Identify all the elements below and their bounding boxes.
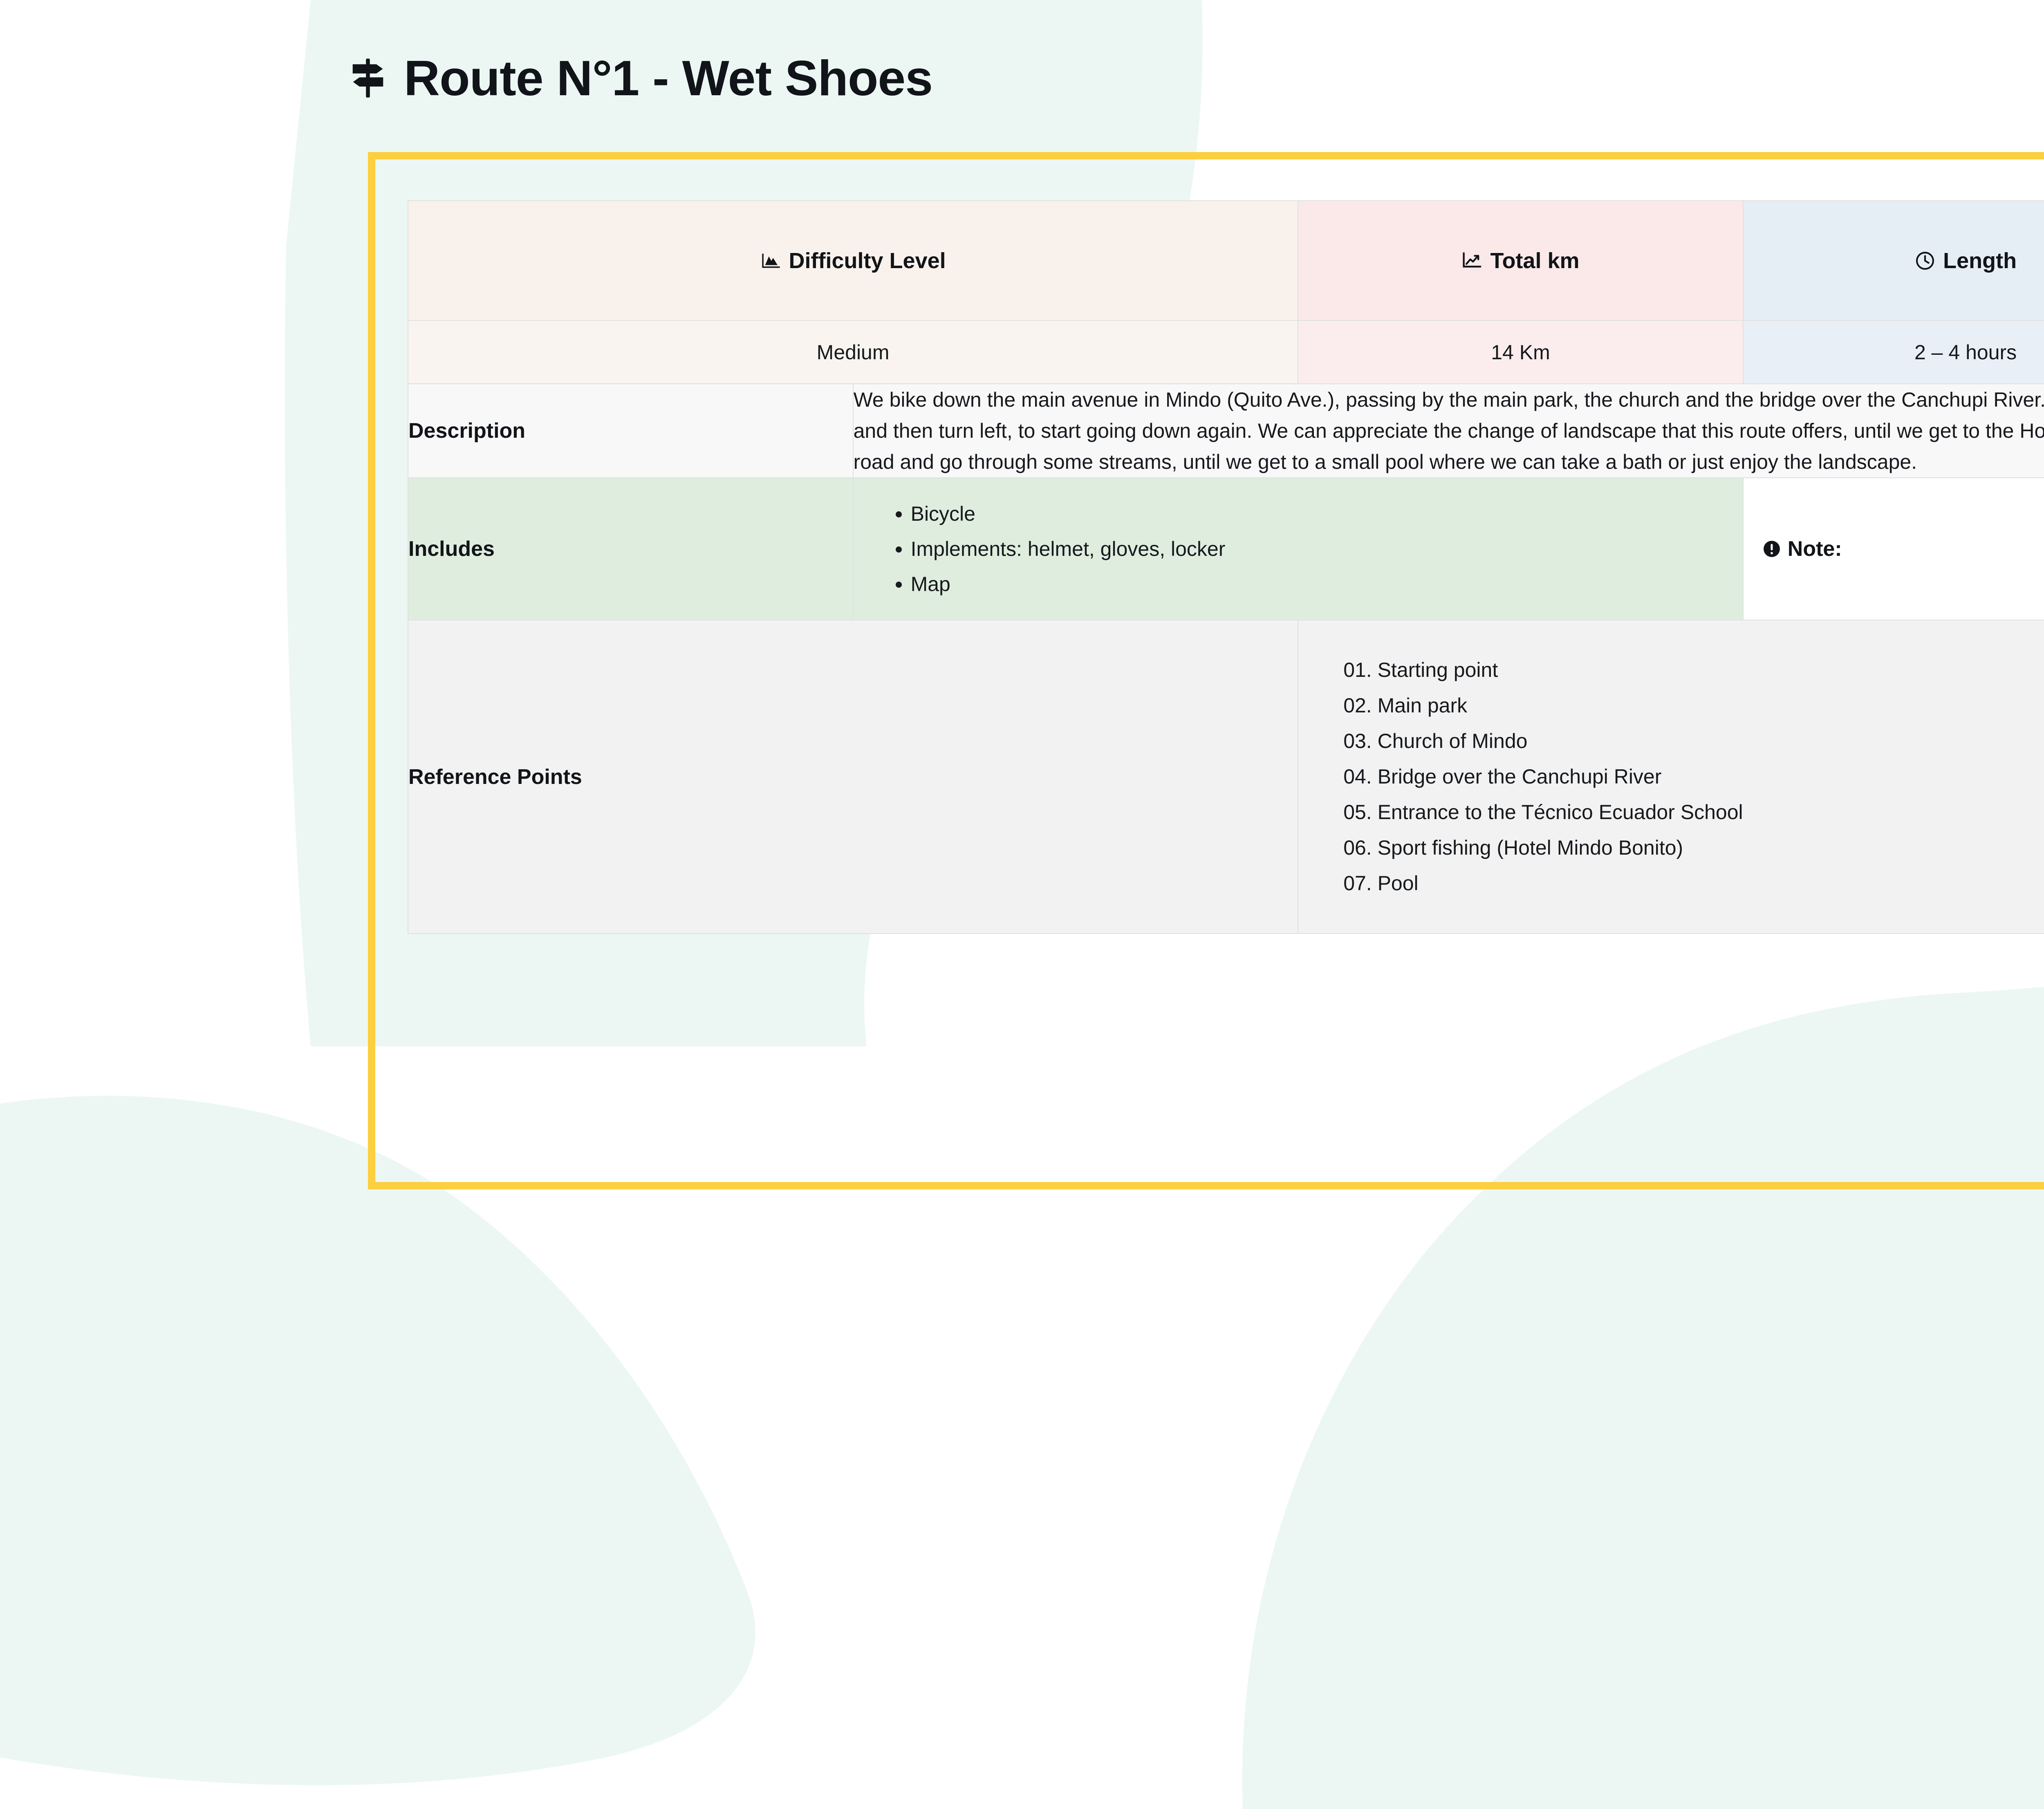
list-item: Bicycle bbox=[911, 496, 1743, 531]
value-cell-total-km: 14 Km bbox=[1298, 320, 1743, 384]
header-label-total-km: Total km bbox=[1490, 248, 1579, 273]
list-item: 06. Sport fishing (Hotel Mindo Bonito) bbox=[1343, 830, 2044, 866]
includes-list: Bicycle Implements: helmet, gloves, lock… bbox=[854, 478, 1743, 620]
note-cell: Note: bbox=[1743, 478, 2044, 620]
exclamation-circle-icon bbox=[1762, 540, 1781, 558]
page-root: Route N°1 - Wet Shoes Difficulty Level bbox=[0, 0, 2044, 1809]
chart-line-icon bbox=[1461, 250, 1483, 271]
page-title-row: Route N°1 - Wet Shoes bbox=[347, 53, 932, 103]
description-row: Description We bike down the main avenue… bbox=[408, 384, 2044, 478]
header-cell-total-km: Total km bbox=[1298, 201, 1743, 320]
header-label-difficulty: Difficulty Level bbox=[789, 248, 946, 273]
header-cell-difficulty: Difficulty Level bbox=[408, 201, 1298, 320]
reference-points-list: 01. Starting point 02. Main park 03. Chu… bbox=[1298, 620, 2044, 933]
clock-icon bbox=[1914, 250, 1936, 271]
includes-list-cell: Bicycle Implements: helmet, gloves, lock… bbox=[853, 478, 1743, 620]
mountain-icon bbox=[760, 250, 782, 271]
summary-value-row: Medium 14 Km 2 – 4 hours $15 x person bbox=[408, 320, 2044, 384]
header-cell-length: Length bbox=[1743, 201, 2044, 320]
list-item: 03. Church of Mindo bbox=[1343, 723, 2044, 759]
page-title: Route N°1 - Wet Shoes bbox=[404, 53, 932, 103]
route-detail-table: Difficulty Level Total km bbox=[408, 200, 2044, 934]
signpost-icon bbox=[347, 57, 389, 99]
value-cell-length: 2 – 4 hours bbox=[1743, 320, 2044, 384]
description-text: We bike down the main avenue in Mindo (Q… bbox=[853, 384, 2044, 478]
note-label: Note: bbox=[1788, 537, 1842, 561]
includes-row: Includes Bicycle Implements: helmet, glo… bbox=[408, 478, 2044, 620]
header-label-length: Length bbox=[1943, 248, 2017, 273]
description-text-part-1: We bike down the main avenue in Mindo (Q… bbox=[854, 388, 2044, 442]
reference-points-list-cell: 01. Starting point 02. Main park 03. Chu… bbox=[1298, 620, 2044, 934]
description-label: Description bbox=[408, 384, 853, 478]
list-item: 04. Bridge over the Canchupi River bbox=[1343, 759, 2044, 795]
list-item: 07. Pool bbox=[1343, 866, 2044, 901]
list-item: 02. Main park bbox=[1343, 688, 2044, 723]
includes-label: Includes bbox=[408, 478, 853, 620]
list-item: Implements: helmet, gloves, locker bbox=[911, 531, 1743, 566]
value-cell-difficulty: Medium bbox=[408, 320, 1298, 384]
reference-points-label: Reference Points bbox=[408, 620, 1298, 934]
list-item: 01. Starting point bbox=[1343, 652, 2044, 688]
mint-blob-bottom-left bbox=[0, 1096, 755, 1785]
summary-header-row: Difficulty Level Total km bbox=[408, 201, 2044, 320]
list-item: Map bbox=[911, 566, 1743, 602]
reference-points-row: Reference Points 01. Starting point 02. … bbox=[408, 620, 2044, 934]
list-item: 05. Entrance to the Técnico Ecuador Scho… bbox=[1343, 795, 2044, 830]
